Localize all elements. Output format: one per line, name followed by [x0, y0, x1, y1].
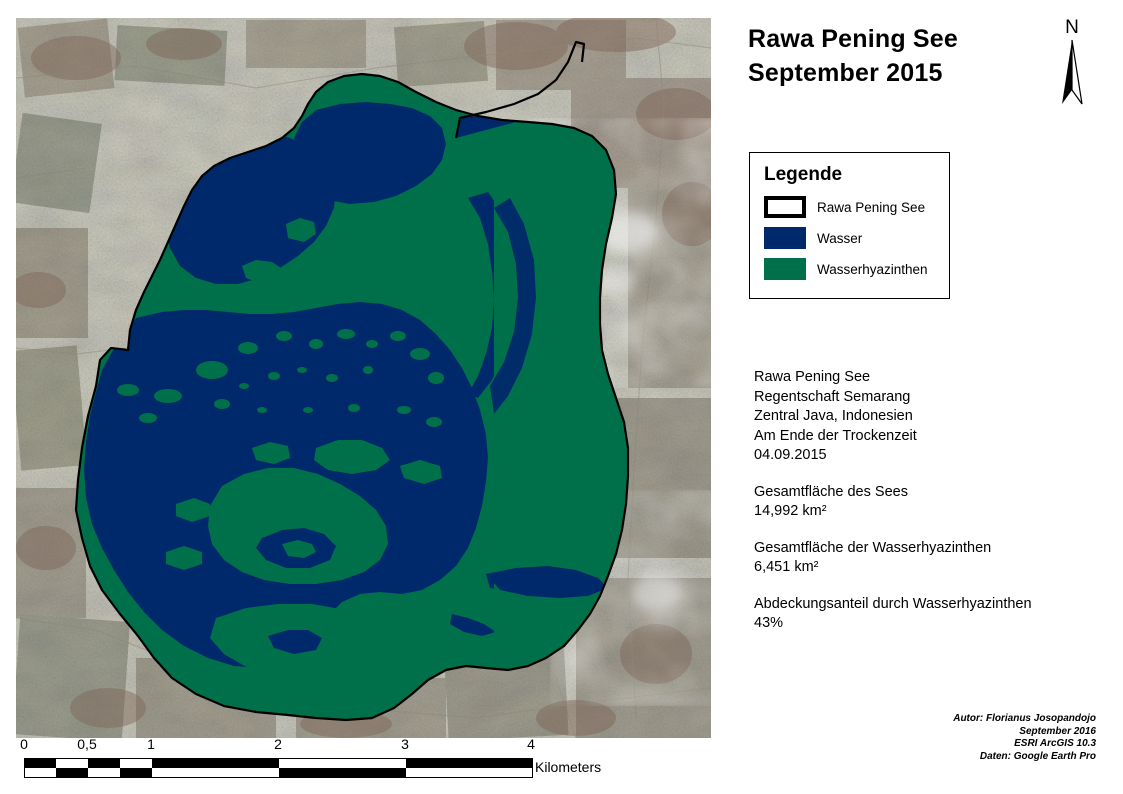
info-lake-area-value: 14,992 km² — [754, 502, 1094, 522]
legend-item-wasserhyazinthen[interactable]: Wasserhyazinthen — [764, 256, 949, 282]
legend-label-water: Wasser — [817, 231, 862, 246]
info-lake-area: Gesamtfläche des Sees 14,992 km² — [754, 483, 1094, 522]
north-arrow-label: N — [1046, 18, 1098, 38]
info-lake-area-label: Gesamtfläche des Sees — [754, 483, 1094, 503]
scale-tick: 0 — [20, 736, 28, 752]
info-location-line: Am Ende der Trockenzeit — [754, 427, 1094, 447]
map-title: Rawa Pening See September 2015 — [748, 22, 1008, 90]
credits-author: Autor: Florianus Josopandojo — [800, 713, 1096, 726]
info-coverage-label: Abdeckungsanteil durch Wasserhyazinthen — [754, 595, 1094, 615]
scale-tick-labels: 0 0,5 1 2 3 4 — [0, 736, 700, 756]
legend-heading: Legende — [764, 164, 949, 186]
map-title-line1: Rawa Pening See — [748, 22, 1008, 56]
legend-swatch-hyacinth — [764, 258, 806, 280]
info-coverage-value: 43% — [754, 614, 1094, 634]
info-hyacinth-area: Gesamtfläche der Wasserhyazinthen 6,451 … — [754, 539, 1094, 578]
credits-source: Daten: Google Earth Pro — [800, 751, 1096, 764]
map-svg — [16, 18, 711, 738]
info-location-line: Zentral Java, Indonesien — [754, 407, 1094, 427]
legend-item-wasser[interactable]: Wasser — [764, 225, 949, 251]
legend-label-hyacinth: Wasserhyazinthen — [817, 262, 928, 277]
legend-panel: Legende Rawa Pening See Wasser Wasserhya… — [749, 152, 950, 299]
scale-tick: 1 — [147, 736, 155, 752]
info-panel: Rawa Pening See Regentschaft Semarang Ze… — [754, 368, 1094, 651]
info-location: Rawa Pening See Regentschaft Semarang Ze… — [754, 368, 1094, 466]
info-location-line: Rawa Pening See — [754, 368, 1094, 388]
map-title-line2: September 2015 — [748, 56, 1008, 90]
scale-tick: 4 — [527, 736, 535, 752]
credits-software: ESRI ArcGIS 10.3 — [800, 738, 1096, 751]
credits-date: September 2016 — [800, 726, 1096, 739]
legend-item-rawa-pening-see[interactable]: Rawa Pening See — [764, 194, 949, 220]
info-coverage: Abdeckungsanteil durch Wasserhyazinthen … — [754, 595, 1094, 634]
scale-tick: 3 — [401, 736, 409, 752]
scale-unit-label: Kilometers — [535, 758, 601, 776]
north-arrow-icon — [1046, 38, 1098, 108]
info-location-line: Regentschaft Semarang — [754, 388, 1094, 408]
scale-bar: 0 0,5 1 2 3 4 Kilometers — [0, 736, 700, 786]
north-arrow: N — [1046, 18, 1098, 113]
scale-bar-graphic — [24, 758, 533, 778]
legend-label-lake: Rawa Pening See — [817, 200, 925, 215]
scale-bar-row-top — [25, 759, 532, 768]
info-hyacinth-area-value: 6,451 km² — [754, 558, 1094, 578]
credits-block: Autor: Florianus Josopandojo September 2… — [800, 713, 1096, 763]
info-location-line: 04.09.2015 — [754, 446, 1094, 466]
info-hyacinth-area-label: Gesamtfläche der Wasserhyazinthen — [754, 539, 1094, 559]
map-canvas[interactable] — [16, 18, 711, 738]
scale-bar-row-bottom — [25, 768, 532, 777]
scale-tick: 0,5 — [77, 736, 96, 752]
scale-tick: 2 — [274, 736, 282, 752]
legend-swatch-water — [764, 227, 806, 249]
legend-swatch-lake-outline — [764, 196, 806, 218]
